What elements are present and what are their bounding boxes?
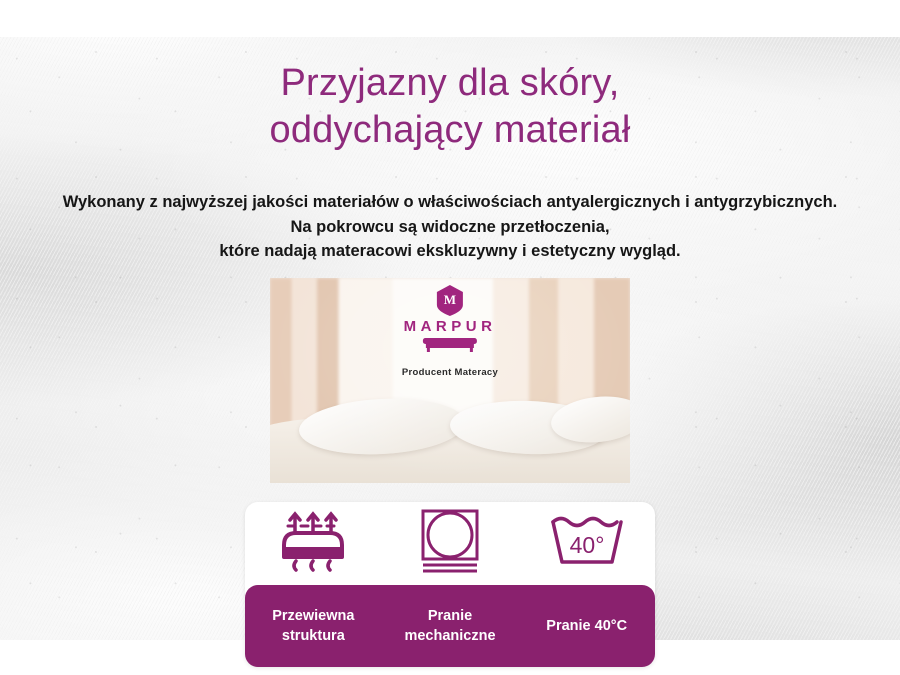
logo-tagline: Producent Materacy (402, 367, 498, 378)
feature-icon-cell (382, 508, 519, 574)
description-line-2: Na pokrowcu są widoczne przetłoczenia, (0, 215, 900, 240)
feature-label-line-2: struktura (245, 626, 382, 646)
description-text: Wykonany z najwyższej jakości materiałów… (0, 190, 900, 264)
feature-card: 40° Przewiewna struktura Pranie mechanic… (245, 502, 655, 667)
logo-bed-icon (402, 337, 498, 358)
logo-monogram-letter: M (444, 292, 456, 307)
promo-banner: Przyjazny dla skóry, oddychający materia… (0, 0, 900, 675)
machine-wash-icon (418, 508, 482, 574)
feature-icon-cell: 40° (518, 514, 655, 568)
feature-label-line-2: mechaniczne (382, 626, 519, 646)
family-photo: M MARPUR Producent Materacy (270, 278, 630, 483)
title-line-1: Przyjazny dla skóry, (280, 62, 619, 104)
wash-tub-40-icon: 40° (548, 514, 626, 568)
page-title: Przyjazny dla skóry, oddychający materia… (0, 60, 900, 154)
feature-label-line-1: Pranie (382, 606, 519, 626)
feature-label-bar: Przewiewna struktura Pranie mechaniczne … (245, 585, 655, 667)
feature-icon-cell (245, 509, 382, 573)
hexagon-monogram-icon: M (435, 284, 465, 317)
logo-hex-badge: M (402, 284, 498, 317)
feature-label-line-1: Przewiewna (245, 606, 382, 626)
description-line-1: Wykonany z najwyższej jakości materiałów… (0, 190, 900, 215)
feature-label-breathable: Przewiewna struktura (245, 606, 382, 646)
feature-icon-row: 40° (245, 502, 655, 580)
feature-label-wash-40: Pranie 40°C (518, 616, 655, 636)
description-line-3: które nadają materacowi ekskluzywny i es… (0, 239, 900, 264)
breathable-mattress-airflow-icon (276, 509, 350, 573)
title-line-2: oddychający materiał (0, 107, 900, 154)
logo-wordmark: MARPUR (402, 318, 498, 335)
wash-temperature-text: 40° (569, 532, 604, 558)
marpur-logo: M MARPUR Producent Materacy (402, 284, 498, 378)
feature-label-machine-wash: Pranie mechaniczne (382, 606, 519, 646)
feature-label-line-1: Pranie 40°C (518, 616, 655, 636)
